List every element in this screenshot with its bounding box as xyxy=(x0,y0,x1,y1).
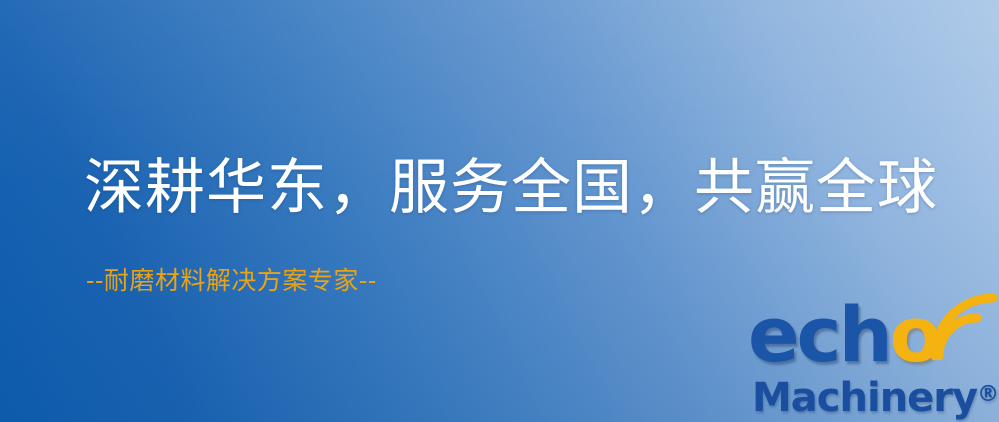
headline-text: 深耕华东，服务全国，共赢全球 xyxy=(84,152,938,224)
logo-wordmark-text: Machinery xyxy=(752,375,977,421)
logo-brand-ech: ech xyxy=(748,290,890,379)
signal-arcs-icon xyxy=(929,294,997,360)
registered-trademark-icon: ® xyxy=(977,382,999,407)
logo-mark: echo xyxy=(744,296,996,382)
logo-wordmark: Machinery® xyxy=(752,372,999,421)
subtitle-text: --耐磨材料解决方案专家-- xyxy=(86,266,377,296)
logo-brand-text: echo xyxy=(748,292,939,378)
company-logo: echo Machinery® xyxy=(744,296,996,422)
hero-banner: 深耕华东，服务全国，共赢全球 --耐磨材料解决方案专家-- echo Machi… xyxy=(0,0,999,422)
